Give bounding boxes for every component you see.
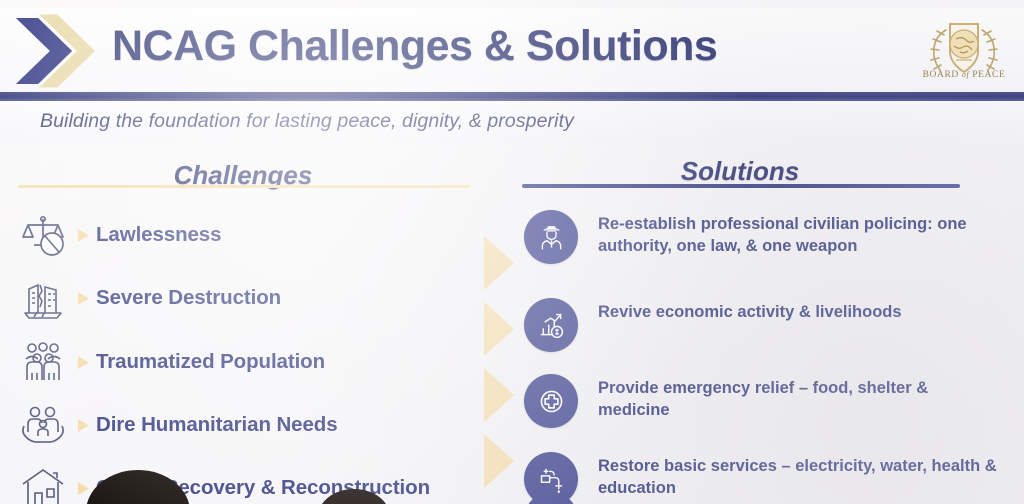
page-title: NCAG Challenges & Solutions <box>112 22 717 71</box>
seal-word-peace: PEACE <box>972 70 1005 80</box>
challenge-row[interactable]: Lawlessness <box>16 207 486 263</box>
solution-label: Re-establish professional civilian polic… <box>598 210 998 258</box>
double-chevron-logo <box>12 14 104 88</box>
challenge-label: Traumatized Population <box>96 350 325 374</box>
flow-arrow-icon <box>482 432 516 490</box>
solutions-heading: Solutions <box>520 156 960 187</box>
medical-cross-icon <box>524 374 578 428</box>
challenge-row[interactable]: Severe Destruction <box>16 270 486 326</box>
scales-of-justice-prohibited-icon <box>16 209 70 261</box>
solution-row[interactable]: Restore basic services – electricity, wa… <box>524 452 1020 504</box>
challenge-row[interactable]: Dire Humanitarian Needs <box>16 397 486 453</box>
solution-label: Provide emergency relief – food, shelter… <box>598 374 998 422</box>
challenge-label: Severe Destruction <box>96 286 281 310</box>
solutions-underline <box>522 184 960 188</box>
bullet-arrow-icon <box>70 355 96 370</box>
bullet-arrow-icon <box>70 228 96 243</box>
growth-chart-dollar-icon <box>524 298 578 352</box>
solution-label: Revive economic activity & livelihoods <box>598 298 902 324</box>
solution-label: Restore basic services – electricity, wa… <box>598 452 998 500</box>
header-divider-rule <box>0 92 1024 101</box>
subtitle: Building the foundation for lasting peac… <box>40 110 574 133</box>
seal-word-of: of <box>962 70 969 79</box>
challenge-label: Dire Humanitarian Needs <box>96 413 338 437</box>
bullet-arrow-icon <box>70 291 96 306</box>
destroyed-buildings-icon <box>16 272 70 324</box>
challenge-row[interactable]: Traumatized Population <box>16 334 486 390</box>
bullet-arrow-icon <box>70 418 96 433</box>
solution-row[interactable]: Re-establish professional civilian polic… <box>524 210 1020 264</box>
house-rebuild-icon <box>16 462 70 504</box>
flow-arrow-icon <box>482 300 516 358</box>
crowd-of-people-icon <box>16 336 70 388</box>
slide-canvas: NCAG Challenges & Solutions BOARD of PEA… <box>0 0 1024 504</box>
seal-word-board: BOARD <box>923 70 959 80</box>
flow-arrow-icon <box>482 366 516 424</box>
solution-row[interactable]: Provide emergency relief – food, shelter… <box>524 374 1020 428</box>
seal-caption: BOARD of PEACE <box>916 70 1012 80</box>
challenge-row[interactable]: Costly Recovery & Reconstruction <box>16 460 486 504</box>
solution-row[interactable]: Revive economic activity & livelihoods <box>524 298 1020 352</box>
challenge-label: Lawlessness <box>96 223 221 247</box>
challenges-underline <box>18 185 470 188</box>
hands-holding-family-icon <box>16 399 70 451</box>
flow-arrow-icon <box>482 234 516 292</box>
police-officer-icon <box>524 210 578 264</box>
